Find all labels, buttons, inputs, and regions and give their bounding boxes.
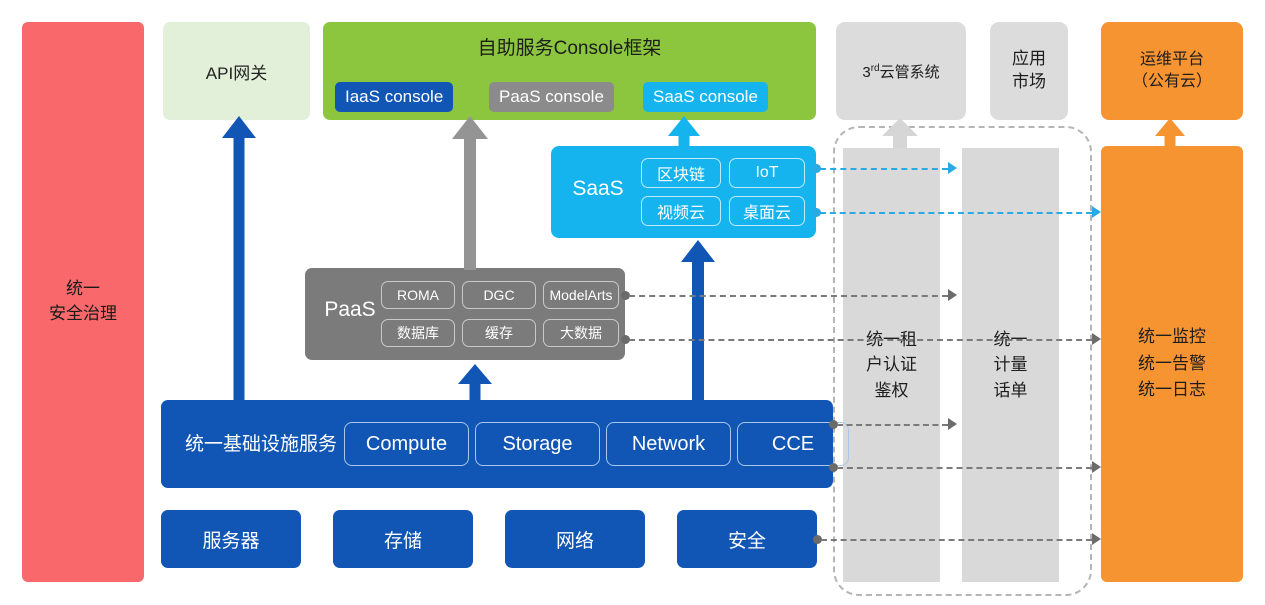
infra-chip-network[interactable]: Network: [606, 422, 731, 466]
architecture-diagram: 统一安全治理 API网关 自助服务Console框架 IaaS console …: [0, 0, 1265, 605]
arrow-infra-to-api-gateway: [222, 116, 256, 402]
saas-label: SaaS: [563, 177, 633, 201]
paas-chip-roma[interactable]: ROMA: [381, 281, 455, 309]
iaas-console-chip[interactable]: IaaS console: [335, 82, 453, 112]
connector-arrowhead-infra-to-auth: [948, 418, 957, 430]
foundation-storage-box[interactable]: 存储: [333, 510, 473, 568]
paas-label: PaaS: [315, 298, 385, 322]
arrow-ops-main-to-ops-top: [1155, 118, 1185, 148]
connector-arrowhead-foundation-to-ops: [1092, 533, 1101, 545]
foundation-security-box[interactable]: 安全: [677, 510, 817, 568]
connector-arrowhead-saas-to-ops: [1092, 206, 1101, 218]
app-market-block: 应用市场: [990, 22, 1068, 120]
saas-console-chip[interactable]: SaaS console: [643, 82, 768, 112]
arrow-shared-to-third-party: [882, 118, 918, 148]
infra-chip-storage[interactable]: Storage: [475, 422, 600, 466]
connector-arrowhead-infra-to-ops: [1092, 461, 1101, 473]
third-party-label: 3rd云管系统: [862, 61, 939, 82]
ops-platform-label: 运维平台（公有云）: [1132, 49, 1212, 94]
app-market-label: 应用市场: [1012, 48, 1046, 94]
paas-chip-modelarts[interactable]: ModelArts: [543, 281, 619, 309]
connector-infra-to-ops: [837, 467, 1092, 469]
console-framework-title: 自助服务Console框架: [323, 33, 816, 60]
connector-arrowhead-saas-to-auth: [948, 162, 957, 174]
unified-security-governance-block: 统一安全治理: [22, 22, 144, 582]
arrow-paas-to-console: [452, 116, 488, 270]
saas-chip-iot[interactable]: IoT: [729, 158, 805, 188]
connector-infra-to-auth: [837, 424, 948, 426]
foundation-network-box[interactable]: 网络: [505, 510, 645, 568]
saas-block: SaaS 区块链 IoT 视频云 桌面云: [551, 146, 816, 238]
connector-arrowhead-paas-to-auth: [948, 289, 957, 301]
ops-platform-public-cloud-block: 运维平台（公有云）: [1101, 22, 1243, 120]
connector-saas-to-ops: [820, 212, 1092, 214]
connector-paas-to-ops: [629, 339, 1092, 341]
paas-block: PaaS ROMA DGC ModelArts 数据库 缓存 大数据: [305, 268, 625, 360]
ops-monitor-alarm-log-block: 统一监控统一告警统一日志: [1101, 146, 1243, 582]
unified-infrastructure-block: 统一基础设施服务 Compute Storage Network CCE: [161, 400, 833, 488]
connector-foundation-to-ops: [821, 539, 1092, 541]
paas-chip-database[interactable]: 数据库: [381, 319, 455, 347]
arrow-infra-to-paas: [458, 364, 492, 402]
infra-chip-compute[interactable]: Compute: [344, 422, 469, 466]
paas-chip-dgc[interactable]: DGC: [462, 281, 536, 309]
infrastructure-label: 统一基础设施服务: [185, 429, 337, 456]
api-gateway-label: API网关: [206, 59, 267, 84]
arrow-infra-to-saas: [681, 240, 715, 402]
third-party-superscript: rd: [871, 63, 880, 74]
governance-label: 统一安全治理: [49, 277, 117, 326]
paas-chip-cache[interactable]: 缓存: [462, 319, 536, 347]
foundation-server-box[interactable]: 服务器: [161, 510, 301, 568]
arrow-saas-to-console: [668, 116, 700, 148]
connector-arrowhead-paas-to-ops: [1092, 333, 1101, 345]
third-party-cloud-mgmt-block: 3rd云管系统: [836, 22, 966, 120]
saas-chip-desktop-cloud[interactable]: 桌面云: [729, 196, 805, 226]
paas-chip-bigdata[interactable]: 大数据: [543, 319, 619, 347]
saas-chip-video-cloud[interactable]: 视频云: [641, 196, 721, 226]
connector-paas-to-auth: [629, 295, 948, 297]
connector-saas-to-auth: [820, 168, 948, 170]
paas-console-chip[interactable]: PaaS console: [489, 82, 614, 112]
console-framework-block: 自助服务Console框架 IaaS console PaaS console …: [323, 22, 816, 120]
ops-main-label: 统一监控统一告警统一日志: [1138, 324, 1206, 403]
saas-chip-blockchain[interactable]: 区块链: [641, 158, 721, 188]
api-gateway-block: API网关: [163, 22, 310, 120]
